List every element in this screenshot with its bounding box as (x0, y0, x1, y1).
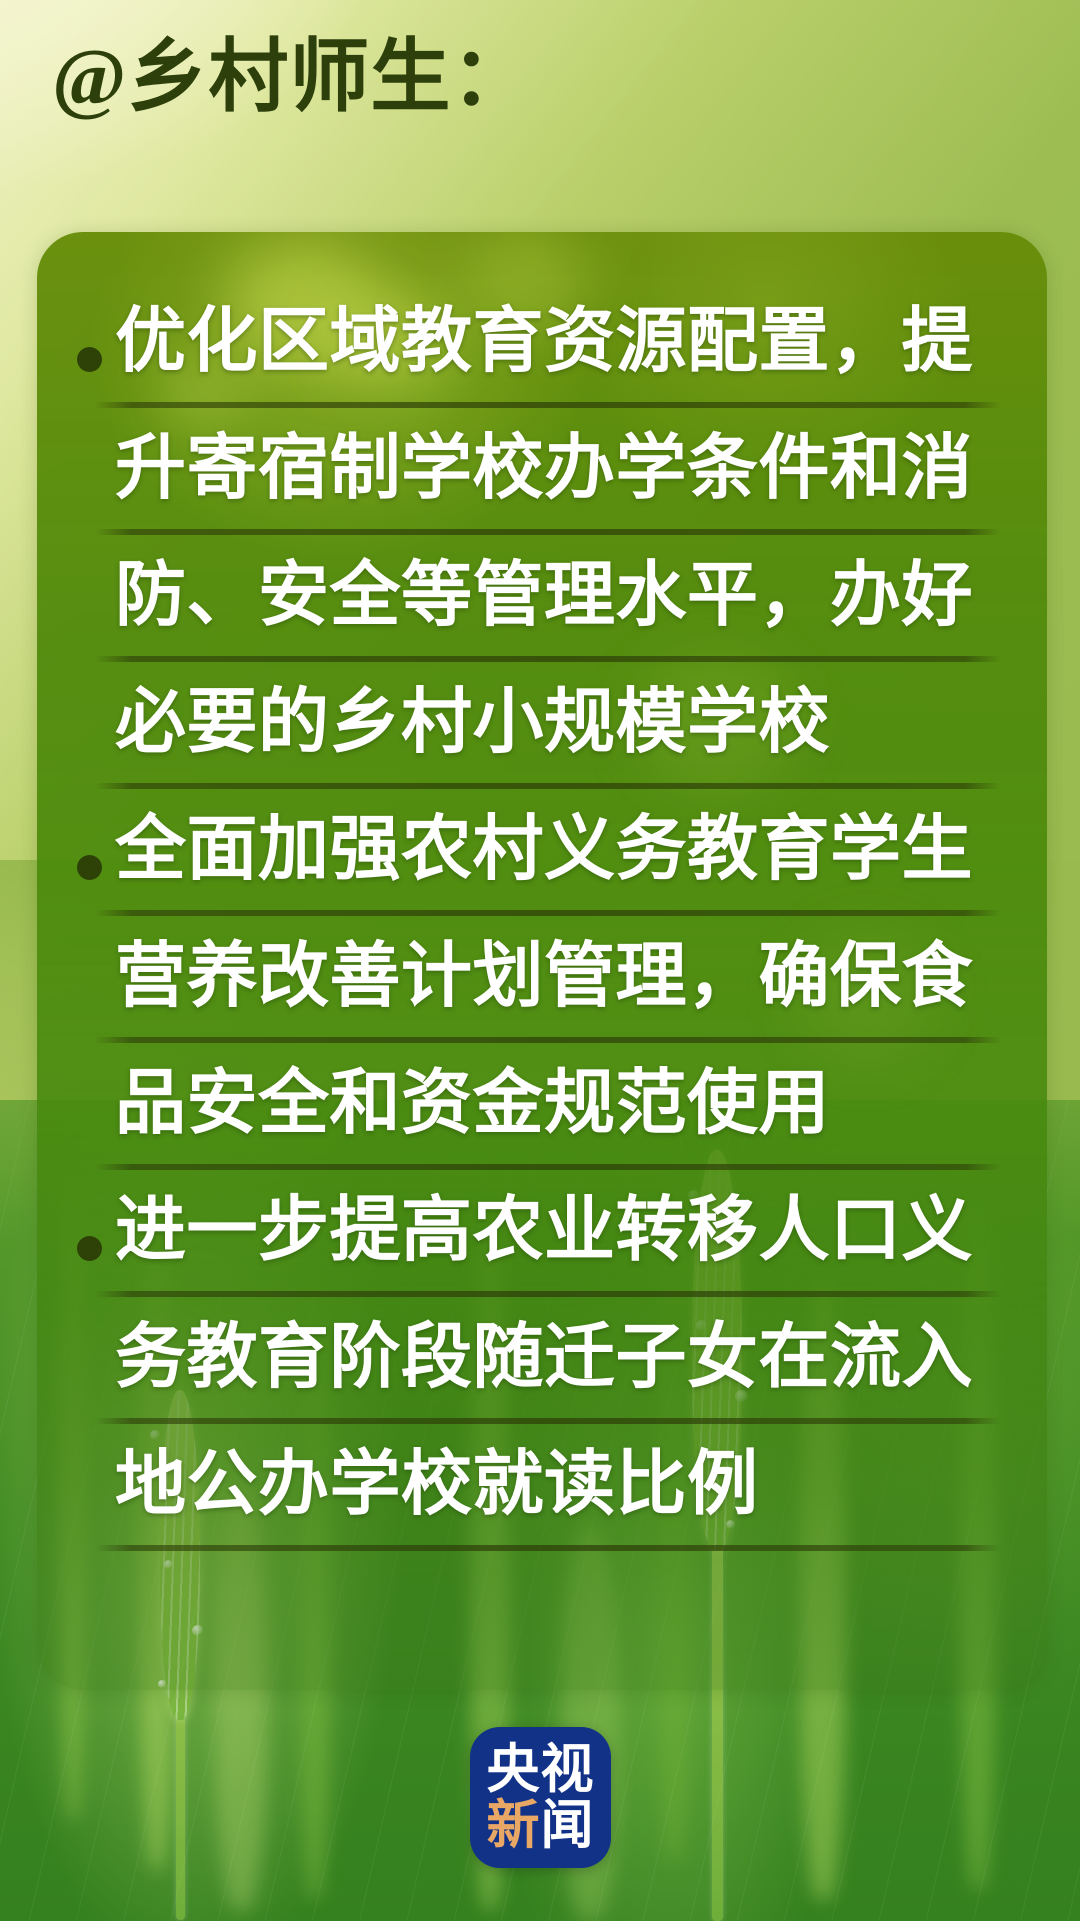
list-item-text: 务教育阶段随迁子女在流入 (115, 1308, 1017, 1408)
list-item-text: 升寄宿制学校办学条件和消 (115, 419, 1017, 519)
list-item: 防、安全等管理水平，办好 (37, 534, 1047, 661)
list-item-text: 全面加强农村义务教育学生 (115, 800, 1017, 900)
list-item-text: 进一步提高农业转移人口义 (115, 1181, 1017, 1281)
list-item: 务教育阶段随迁子女在流入 (37, 1296, 1047, 1423)
logo-char-wen: 闻 (541, 1799, 595, 1852)
bullet-list: 优化区域教育资源配置，提 升寄宿制学校办学条件和消 防、安全等管理水平，办好 必… (37, 232, 1047, 1690)
list-item-text: 地公办学校就读比例 (115, 1435, 1017, 1535)
list-item: 全面加强农村义务教育学生 (37, 788, 1047, 915)
list-item-text: 必要的乡村小规模学校 (115, 673, 1017, 773)
cctv-news-logo[interactable]: 央 视 新 闻 (470, 1727, 611, 1868)
bullet-dot-icon (77, 1236, 102, 1261)
logo-char-shi: 视 (541, 1743, 595, 1796)
list-item-text: 营养改善计划管理，确保食 (115, 927, 1017, 1027)
list-item: 升寄宿制学校办学条件和消 (37, 407, 1047, 534)
list-item-text: 品安全和资金规范使用 (115, 1054, 1017, 1154)
list-item: 进一步提高农业转移人口义 (37, 1169, 1047, 1296)
bullet-dot-icon (77, 347, 102, 372)
list-item-text: 防、安全等管理水平，办好 (115, 546, 1017, 646)
bullet-dot-icon (77, 855, 102, 880)
logo-line-2: 新 闻 (487, 1799, 595, 1852)
list-item-text: 优化区域教育资源配置，提 (115, 292, 1017, 392)
poster-root: @乡村师生： 优化区域教育资源配置，提 升寄宿制学校办学条件和消 防、安全等管理… (0, 0, 1080, 1921)
list-item: 地公办学校就读比例 (37, 1423, 1047, 1550)
list-item: 营养改善计划管理，确保食 (37, 915, 1047, 1042)
logo-char-xin: 新 (487, 1799, 541, 1852)
list-item: 品安全和资金规范使用 (37, 1042, 1047, 1169)
logo-char-yang: 央 (487, 1743, 541, 1796)
list-item: 优化区域教育资源配置，提 (37, 280, 1047, 407)
list-item: 必要的乡村小规模学校 (37, 661, 1047, 788)
line-divider (95, 1545, 1001, 1551)
logo-line-1: 央 视 (487, 1743, 595, 1796)
page-title: @乡村师生： (52, 34, 532, 124)
